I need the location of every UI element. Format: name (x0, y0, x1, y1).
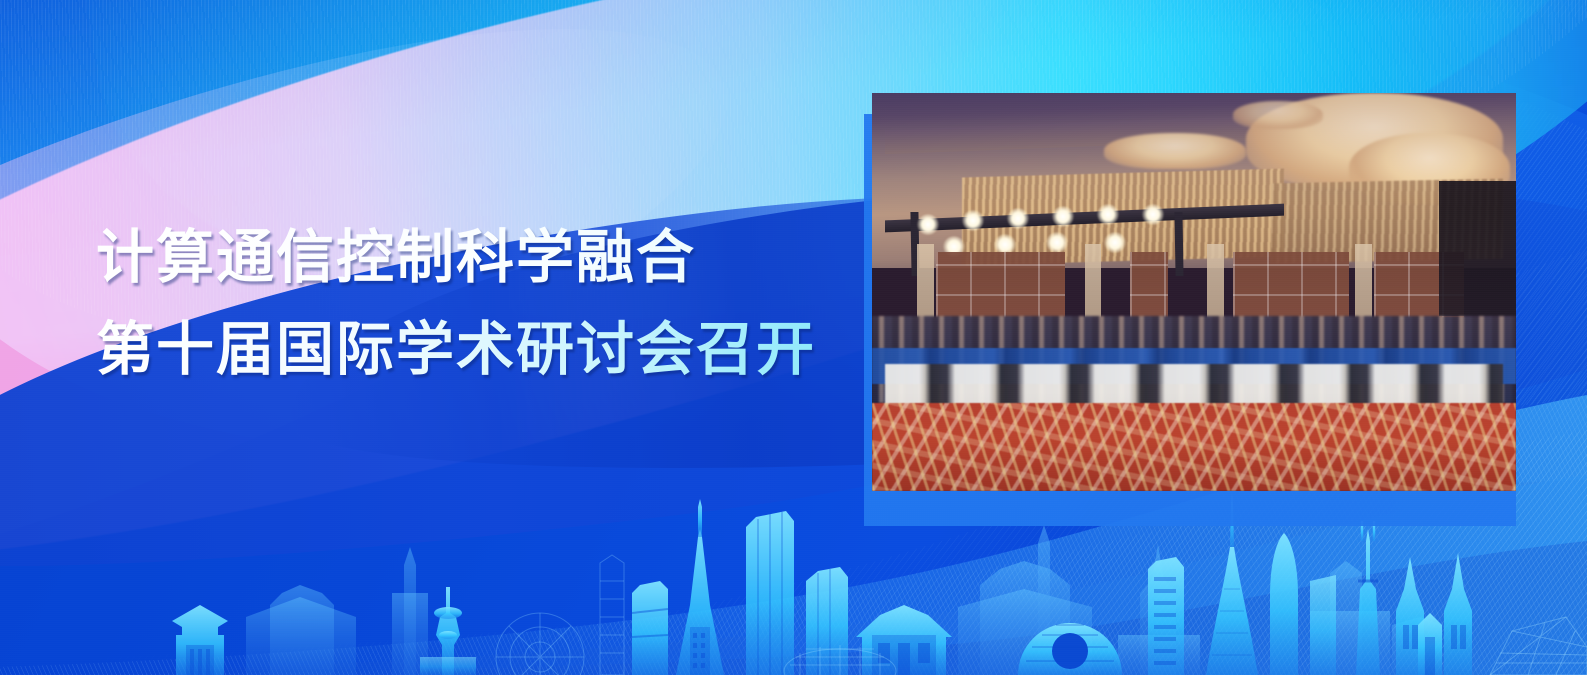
conference-photo (872, 93, 1516, 491)
photo-tone-overlay (872, 93, 1516, 491)
title-line-1: 计算通信控制科学融合 (96, 212, 816, 304)
conference-photo-container (864, 93, 1508, 491)
photo-scene (872, 93, 1516, 491)
title-line-2: 第十届国际学术研讨会召开 (96, 304, 816, 396)
conference-banner: 计算通信控制科学融合 第十届国际学术研讨会召开 (0, 0, 1587, 675)
banner-title: 计算通信控制科学融合 第十届国际学术研讨会召开 (96, 212, 816, 396)
